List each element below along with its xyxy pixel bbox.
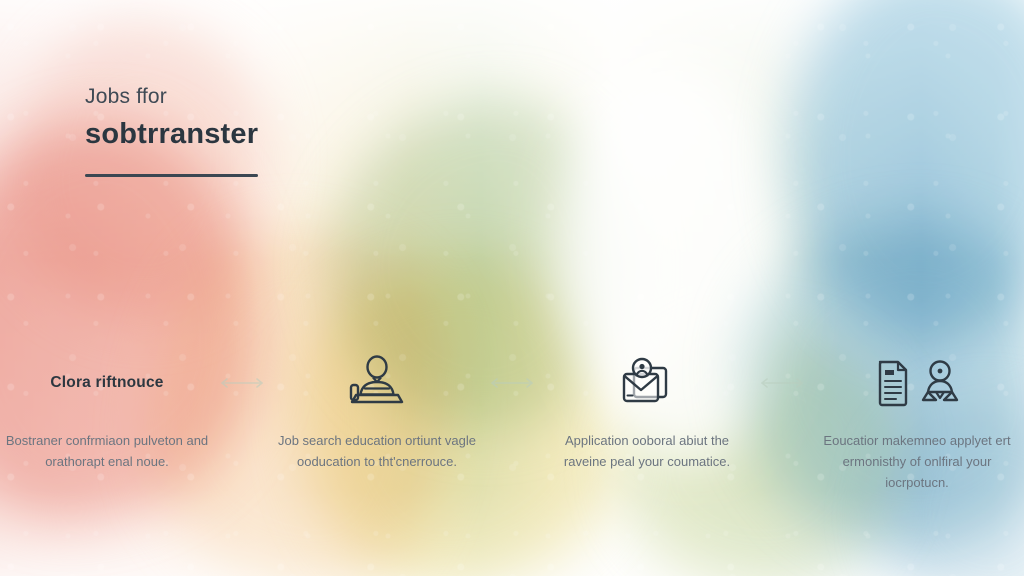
connector-arrow-3 <box>754 352 810 414</box>
column-3-body: Application ooboral abiut the raveine pe… <box>545 430 750 472</box>
person-icon <box>920 358 960 408</box>
column-1-body: Bostraner confrmiaon pulveton and oratho… <box>5 430 210 472</box>
column-4: Eoucatior makemneo applyet ert ermonisth… <box>810 352 1024 493</box>
title-block: Jobs ffor sobtrranster <box>85 84 258 177</box>
document-person-icon <box>874 352 960 414</box>
document-icon <box>874 358 912 408</box>
person-at-desk-icon <box>347 352 407 414</box>
page-title: sobtrranster <box>85 117 258 152</box>
column-1: Clora riftnouce Bostraner confrmiaon pul… <box>0 352 214 472</box>
column-3: Application ooboral abiut the raveine pe… <box>540 352 754 472</box>
envelope-contact-icon <box>616 352 678 414</box>
connector-arrow-1 <box>214 352 270 414</box>
slide-canvas: Jobs ffor sobtrranster Clora riftnouce B… <box>0 0 1024 576</box>
title-kicker: Jobs ffor <box>85 84 258 109</box>
connector-arrow-2 <box>484 352 540 414</box>
column-4-body: Eoucatior makemneo applyet ert ermonisth… <box>815 430 1020 493</box>
watercolor-blob-blue-top <box>790 0 1024 340</box>
column-2-body: Job search education ortiunt vagle ooduc… <box>275 430 480 472</box>
columns-row: Clora riftnouce Bostraner confrmiaon pul… <box>0 352 1024 493</box>
title-divider-rule <box>85 174 258 177</box>
column-1-heading: Clora riftnouce <box>50 352 163 414</box>
column-2: Job search education ortiunt vagle ooduc… <box>270 352 484 472</box>
